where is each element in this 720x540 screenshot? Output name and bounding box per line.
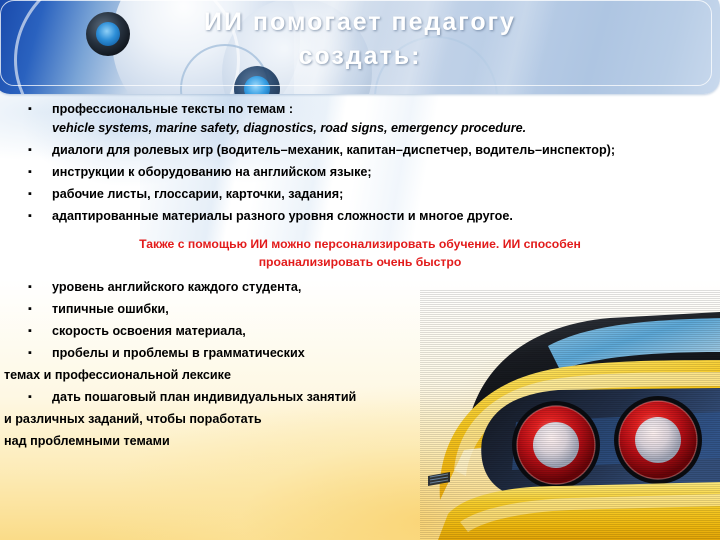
bullet-marker-icon: ▪ — [28, 207, 52, 226]
continuation-line-3: над проблемными темами — [0, 432, 720, 451]
list-item-text: рабочие листы, глоссарии, карточки, зада… — [52, 185, 720, 204]
list-item: ▪ типичные ошибки, — [0, 300, 720, 319]
list-item-text: инструкции к оборудованию на английском … — [52, 163, 720, 182]
bullet-marker-icon: ▪ — [28, 100, 52, 119]
list-item-subtext: vehicle systems, marine safety, diagnost… — [52, 119, 704, 138]
list-item-text: скорость освоения материала, — [52, 322, 720, 341]
bullet-marker-icon: ▪ — [28, 344, 52, 363]
list-item: ▪ адаптированные материалы разного уровн… — [0, 207, 720, 226]
list-item: ▪ скорость освоения материала, — [0, 322, 720, 341]
list-item-text: типичные ошибки, — [52, 300, 720, 319]
list-item-text: пробелы и проблемы в грамматических — [52, 344, 720, 363]
list-item: ▪ рабочие листы, глоссарии, карточки, за… — [0, 185, 720, 204]
list-item-text: профессиональные тексты по темам : vehic… — [52, 100, 720, 138]
bullet-marker-icon: ▪ — [28, 185, 52, 204]
list-item-text: дать пошаговый план индивидуальных занят… — [52, 388, 720, 407]
list-item: ▪ профессиональные тексты по темам : veh… — [0, 100, 720, 138]
slide-title: ИИ помогает педагогу создать: — [0, 5, 720, 73]
slide-canvas: ИИ помогает педагогу создать: ▪ професси… — [0, 0, 720, 540]
bullet-marker-icon: ▪ — [28, 300, 52, 319]
bullet-marker-icon: ▪ — [28, 388, 52, 407]
list-item: ▪ инструкции к оборудованию на английско… — [0, 163, 720, 182]
continuation-line-1: темах и профессиональной лексике — [0, 366, 720, 385]
list-item: ▪ диалоги для ролевых игр (водитель–меха… — [0, 141, 720, 160]
eyelet-lower-core-icon — [244, 76, 270, 94]
continuation-line-2: и различных заданий, чтобы поработать — [0, 410, 720, 429]
bullet-marker-icon: ▪ — [28, 322, 52, 341]
list-item-main: профессиональные тексты по темам : — [52, 102, 293, 116]
list-item: ▪ уровень английского каждого студента, — [0, 278, 720, 297]
bullet-marker-icon: ▪ — [28, 278, 52, 297]
list-item: ▪ пробелы и проблемы в грамматических — [0, 344, 720, 363]
list-item-text: адаптированные материалы разного уровня … — [52, 207, 720, 226]
list-item-text: диалоги для ролевых игр (водитель–механи… — [52, 141, 720, 160]
bullet-marker-icon: ▪ — [28, 141, 52, 160]
bullet-list-bottom: ▪ уровень английского каждого студента, … — [0, 278, 720, 363]
list-item-final: ▪ дать пошаговый план индивидуальных зан… — [0, 388, 720, 407]
slide-body: ▪ профессиональные тексты по темам : veh… — [0, 100, 720, 454]
highlight-note: Также с помощью ИИ можно персонализирова… — [0, 229, 720, 278]
bullet-list-top: ▪ профессиональные тексты по темам : veh… — [0, 100, 720, 226]
list-item-text: уровень английского каждого студента, — [52, 278, 720, 297]
bullet-marker-icon: ▪ — [28, 163, 52, 182]
